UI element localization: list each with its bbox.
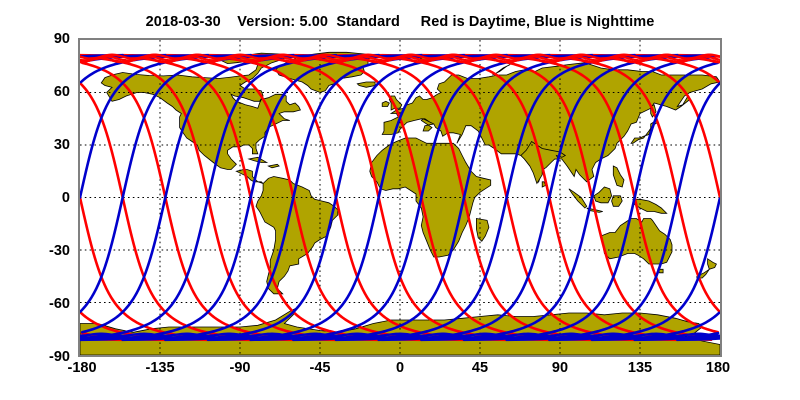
x-tick-label-neg180: -180 — [67, 360, 96, 376]
land-ireland — [382, 101, 389, 106]
y-tick-label-neg90: -90 — [6, 349, 70, 365]
y-tick-label-neg30: -30 — [6, 243, 70, 259]
y-tick-label-90: 90 — [6, 31, 70, 47]
map-svg — [80, 40, 720, 355]
y-tick-label-30: 30 — [6, 137, 70, 153]
x-tick-label-180: 180 — [706, 360, 730, 376]
plot-area — [78, 38, 722, 357]
x-tick-label-neg90: -90 — [230, 360, 251, 376]
x-tick-label-neg45: -45 — [310, 360, 331, 376]
y-tick-label-neg60: -60 — [6, 296, 70, 312]
map-canvas — [80, 40, 720, 355]
figure-title: 2018-03-30 Version: 5.00 Standard Red is… — [0, 14, 800, 30]
y-tick-label-0: 0 — [6, 190, 70, 206]
y-tick-label-60: 60 — [6, 84, 70, 100]
x-tick-label-45: 45 — [472, 360, 488, 376]
x-tick-label-135: 135 — [628, 360, 652, 376]
x-tick-label-90: 90 — [552, 360, 568, 376]
x-tick-label-0: 0 — [396, 360, 404, 376]
ground-track-map-figure: 2018-03-30 Version: 5.00 Standard Red is… — [0, 0, 800, 400]
x-tick-label-neg135: -135 — [145, 360, 174, 376]
